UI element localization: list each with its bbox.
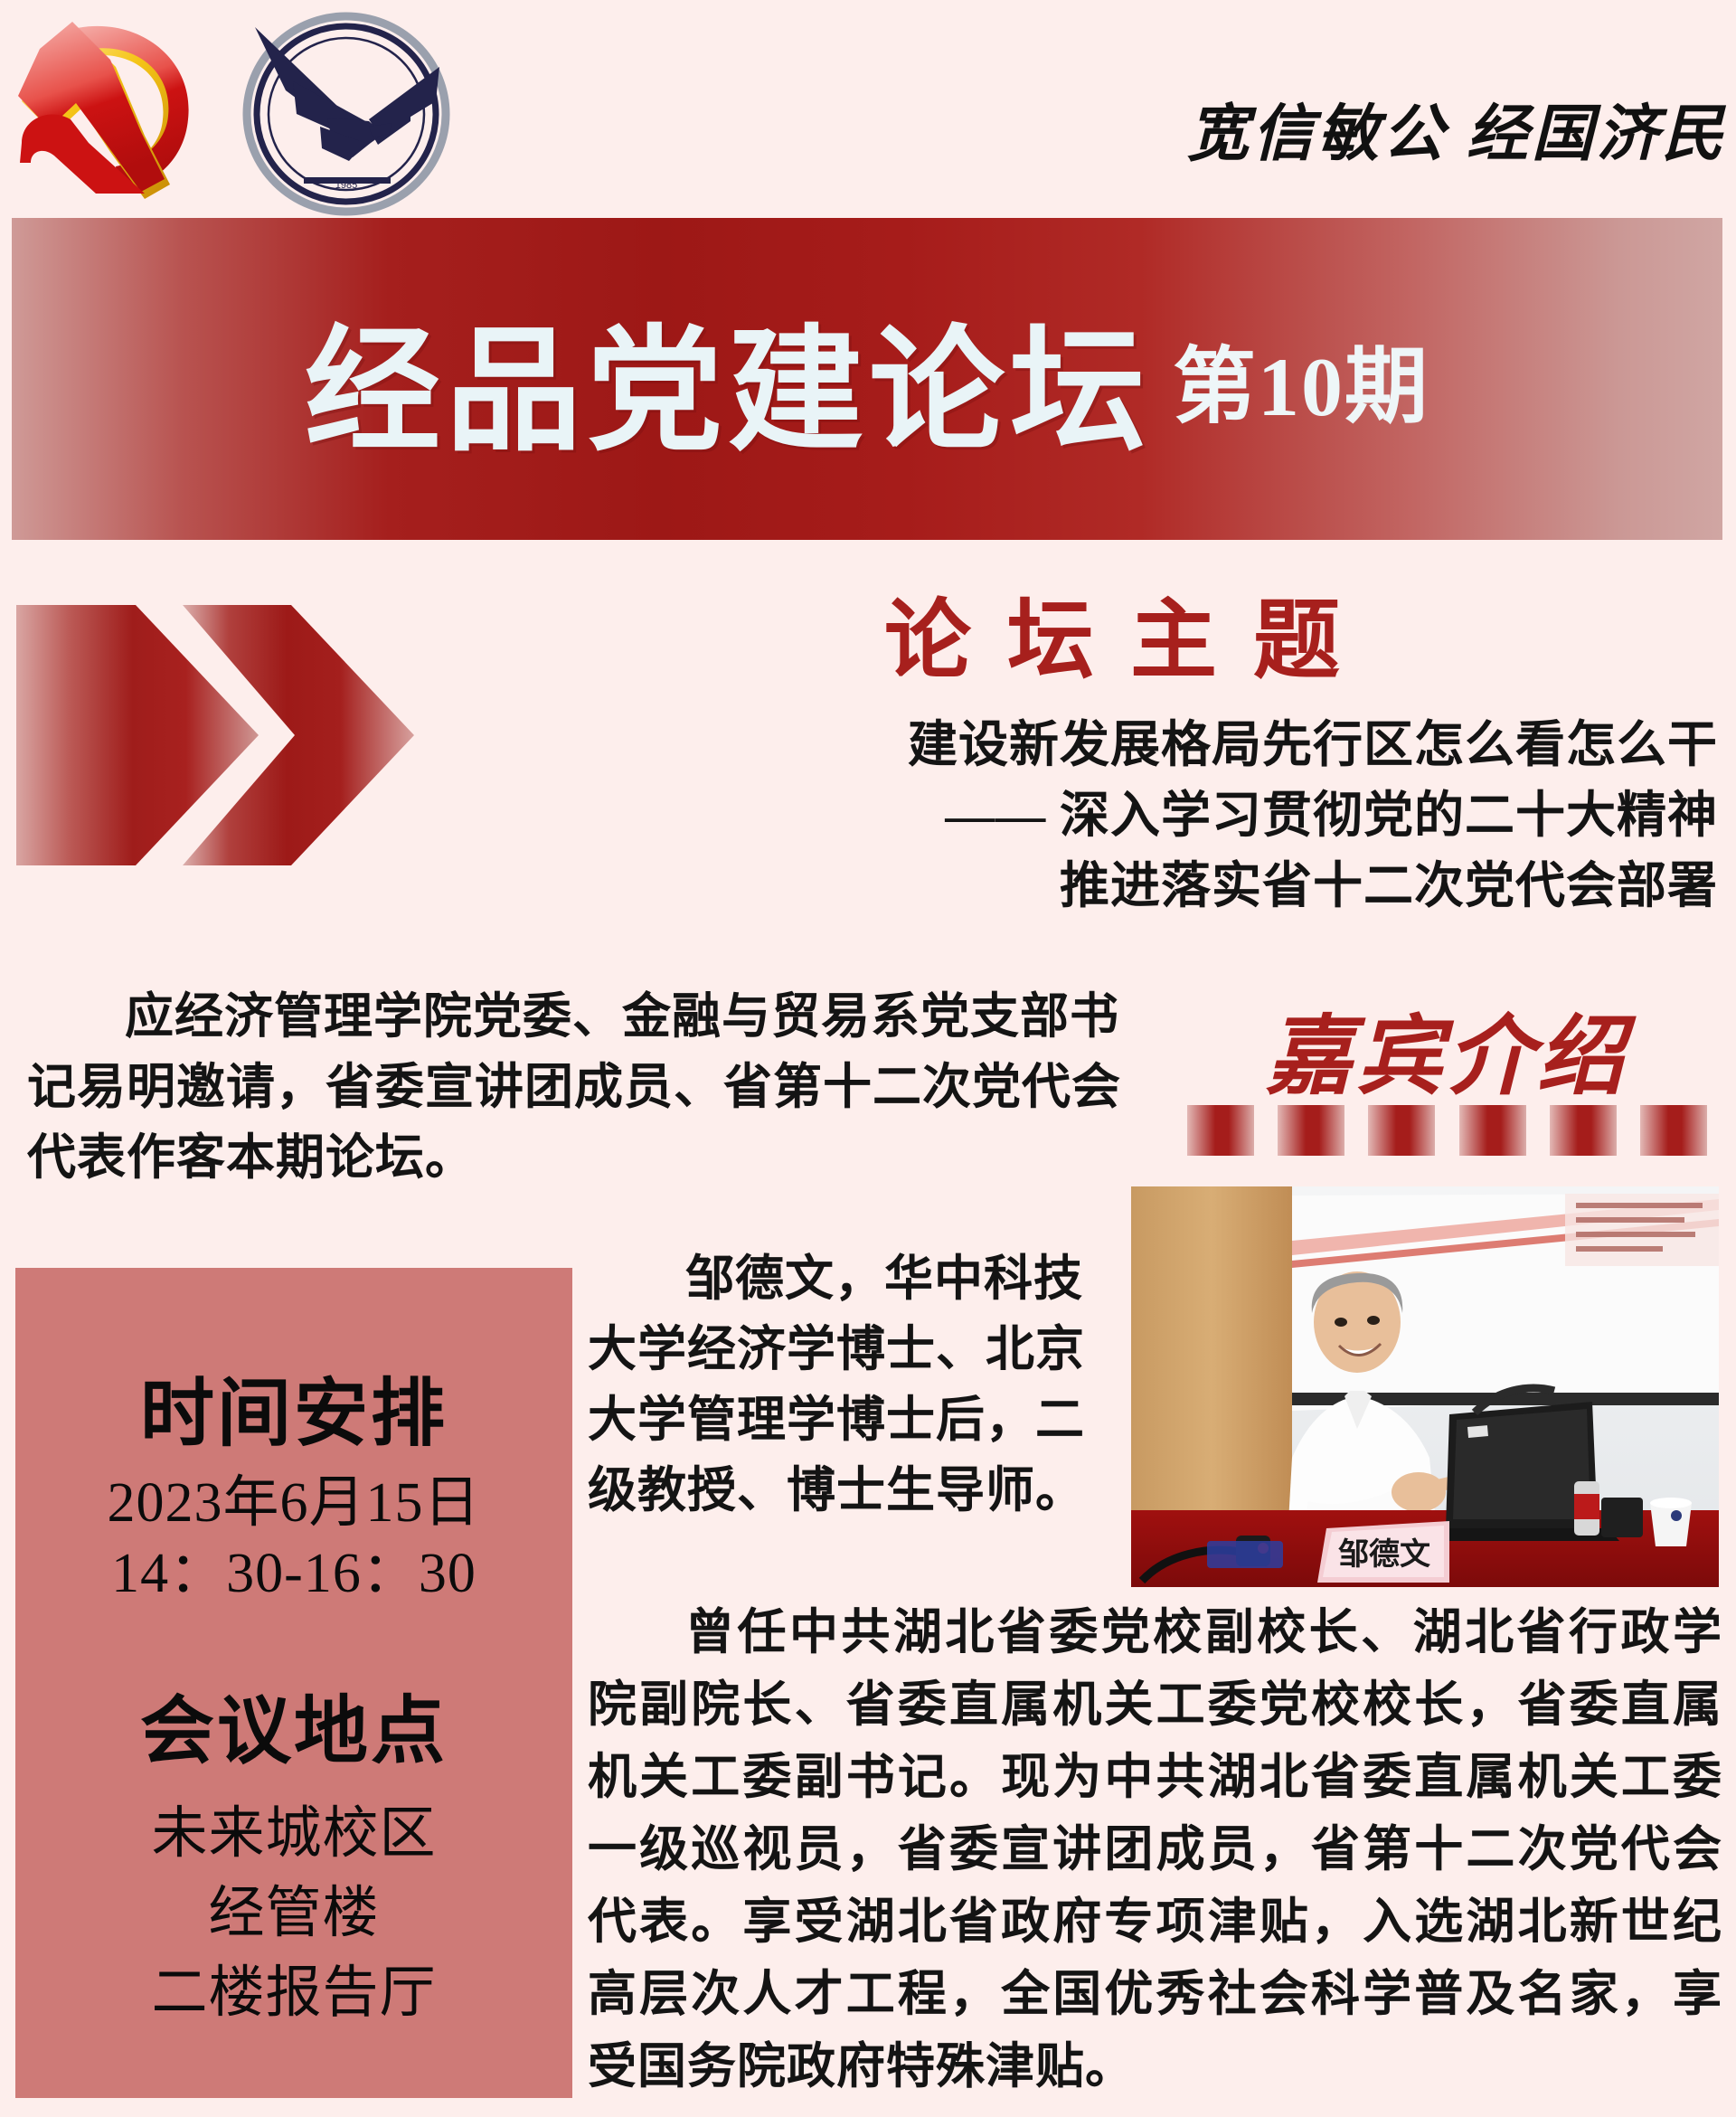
page-motto: 宽信敏公 经国济民 xyxy=(778,83,1727,173)
svg-text:1985: 1985 xyxy=(335,180,357,191)
time-heading: 时间安排 xyxy=(15,1353,572,1460)
guest-section-heading: 嘉宾介绍 xyxy=(1175,986,1718,1111)
decor-block xyxy=(1278,1105,1344,1156)
decor-block xyxy=(1640,1105,1707,1156)
guest-heading-decoration-blocks xyxy=(1187,1105,1707,1156)
decor-block xyxy=(1368,1105,1435,1156)
venue-line-3: 二楼报告厅 xyxy=(15,1953,572,2033)
forum-title: 经品党建论坛 xyxy=(305,281,1151,477)
venue-line-2: 经管楼 xyxy=(15,1874,572,1953)
double-chevron-arrow-icon xyxy=(13,583,438,886)
nameplate-text: 邹德文 xyxy=(1338,1537,1430,1572)
theme-heading: 论坛主题 xyxy=(506,570,1718,695)
decor-block xyxy=(1459,1105,1526,1156)
speaker-photo: 邹德文 xyxy=(1131,1186,1719,1587)
hammer-and-sickle-party-emblem-icon xyxy=(9,7,212,206)
event-time-range: 14：30-16：30 xyxy=(15,1539,572,1608)
decor-block xyxy=(1550,1105,1617,1156)
theme-line-1: 建设新发展格局先行区怎么看怎么干 xyxy=(542,704,1718,776)
cug-school-emblem-icon: 1985 xyxy=(233,7,459,224)
venue-lines: 未来城校区 经管楼 二楼报告厅 xyxy=(15,1794,572,2033)
decor-block xyxy=(1187,1105,1254,1156)
guest-bio-long: 曾任中共湖北省委党校副校长、湖北省行政学院副院长、省委直属机关工委党校校长，省委… xyxy=(588,1596,1722,2103)
title-banner: 经品党建论坛 第10期 xyxy=(12,218,1722,540)
event-date: 2023年6月15日 xyxy=(15,1469,572,1537)
poster-root: 1985 宽信敏公 经国济民 经品党建论坛 第10期 xyxy=(0,0,1736,2117)
theme-line-3: 推进落实省十二次党代会部署 xyxy=(542,845,1718,917)
venue-heading: 会议地点 xyxy=(15,1670,572,1778)
theme-line-2: —— 深入学习贯彻党的二十大精神 xyxy=(542,774,1718,846)
schedule-and-venue-box: 时间安排 2023年6月15日 14：30-16：30 会议地点 未来城校区 经… xyxy=(15,1268,572,2098)
intro-paragraph: 应经济管理学院党委、金融与贸易系党支部书记易明邀请，省委宣讲团成员、省第十二次党… xyxy=(27,981,1121,1193)
issue-number: 第10期 xyxy=(1173,319,1429,439)
venue-line-1: 未来城校区 xyxy=(15,1794,572,1874)
guest-bio-short: 邹德文，华中科技大学经济学博士、北京大学管理学博士后，二级教授、博士生导师。 xyxy=(588,1243,1110,1526)
